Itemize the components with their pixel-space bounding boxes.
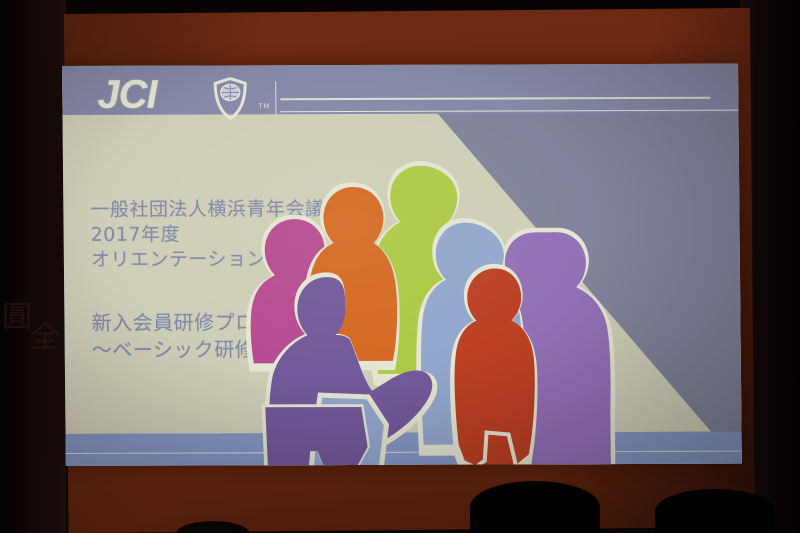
- trademark-label: TM: [258, 103, 270, 110]
- wall-marking-2: 全: [30, 312, 60, 356]
- jci-wordmark: JCI: [97, 74, 157, 114]
- photo-scene: 圓 全: [0, 0, 800, 533]
- room-wall-left-dark: 圓 全: [0, 0, 66, 533]
- presentation-slide: JCI TM 一般社団法人横浜青年会議所 2017年度 オリエンテーション委員会…: [62, 64, 742, 466]
- audience-head-silhouette-2: [655, 489, 775, 533]
- audience-head-silhouette-1: [470, 481, 600, 533]
- figure-purple-legs: [261, 405, 382, 466]
- figure-red: [449, 264, 556, 466]
- jci-shield-globe-icon: [213, 77, 247, 119]
- wall-marking-1: 圓: [2, 292, 32, 336]
- slide-header-band: [62, 64, 738, 115]
